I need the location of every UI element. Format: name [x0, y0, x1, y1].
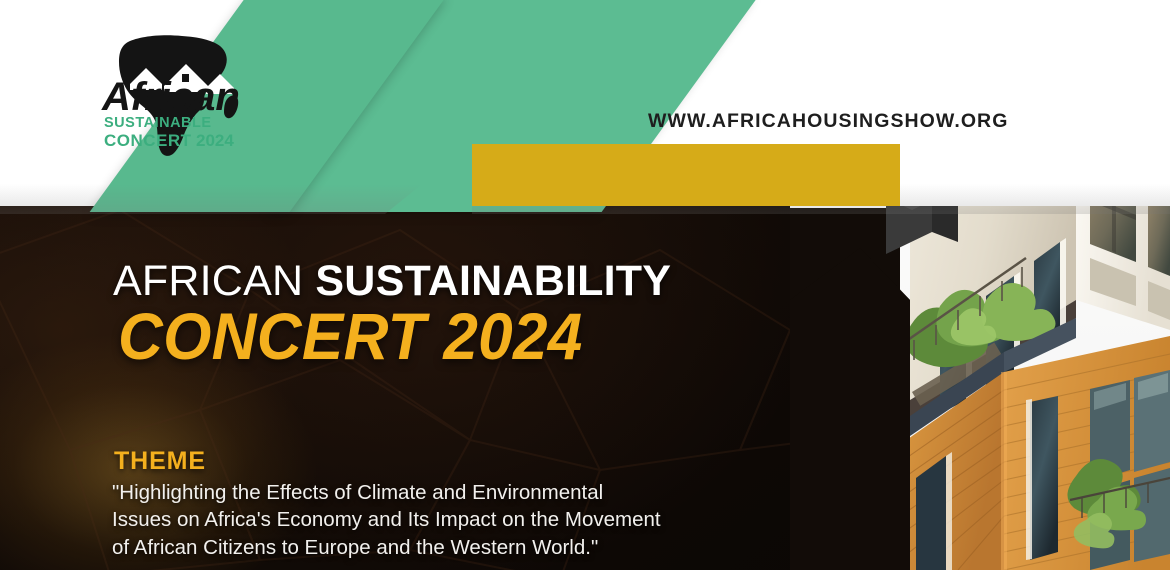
logo-concert-text: CONCERT: [104, 131, 192, 150]
page-subtitle: CONCERT 2024: [118, 303, 583, 369]
title-word-african: AFRICAN: [113, 257, 315, 305]
theme-statement: "Highlighting the Effects of Climate and…: [112, 479, 802, 561]
theme-line-3: of African Citizens to Europe and the We…: [112, 534, 802, 561]
theme-line-2: Issues on Africa's Economy and Its Impac…: [112, 506, 802, 533]
logo-wordmark-text: African: [101, 75, 240, 119]
logo-year-text: 2024: [196, 131, 234, 150]
african-sustainable-concert-logo[interactable]: African SUSTAINABLE CONCERT 2024: [100, 24, 246, 160]
logo-sustainable-text: SUSTAINABLE: [104, 115, 212, 131]
gold-accent-block: [472, 144, 900, 206]
title-word-sustainability: SUSTAINABILITY: [315, 257, 671, 305]
website-url[interactable]: WWW.AFRICAHOUSINGSHOW.ORG: [648, 110, 1008, 133]
page-title: AFRICAN SUSTAINABILITY: [113, 260, 671, 303]
theme-line-1: "Highlighting the Effects of Climate and…: [112, 479, 802, 506]
promotional-banner: African SUSTAINABLE CONCERT 2024 WWW.AFR…: [0, 0, 1170, 570]
theme-label: THEME: [114, 447, 206, 476]
